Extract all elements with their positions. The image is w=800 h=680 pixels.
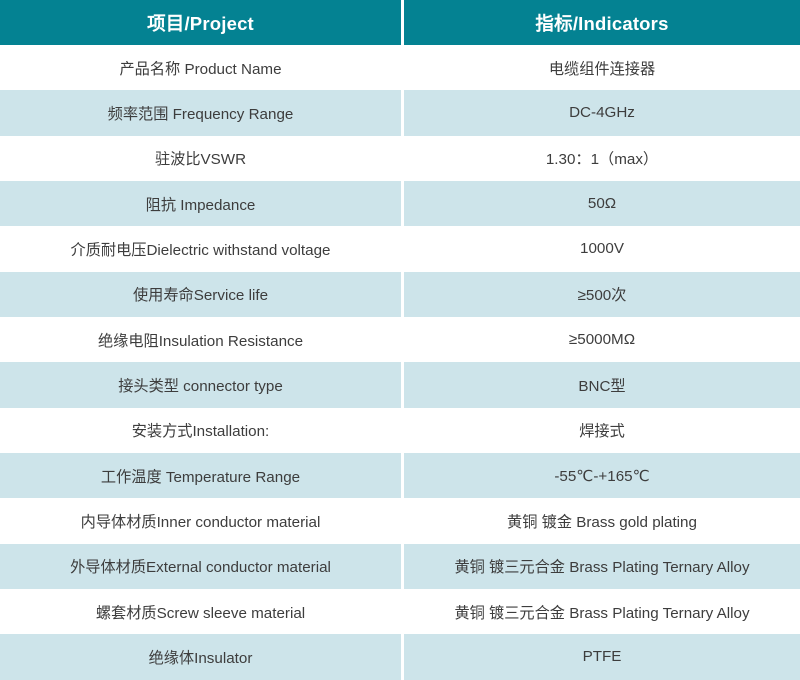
cell-project: 介质耐电压Dielectric withstand voltage — [0, 226, 401, 271]
cell-indicator: 黄铜 镀三元合金 Brass Plating Ternary Alloy — [404, 589, 800, 634]
cell-project: 绝缘体Insulator — [0, 634, 401, 679]
cell-indicator: 1.30：1（max） — [404, 136, 800, 181]
table-row: 绝缘体Insulator PTFE — [0, 634, 800, 679]
cell-project: 驻波比VSWR — [0, 136, 401, 181]
table-row: 接头类型 connector type BNC型 — [0, 362, 800, 407]
cell-indicator: PTFE — [404, 634, 800, 679]
cell-indicator: 电缆组件连接器 — [404, 45, 800, 90]
table-row: 外导体材质External conductor material 黄铜 镀三元合… — [0, 544, 800, 589]
cell-project: 产品名称 Product Name — [0, 45, 401, 90]
table-row: 安装方式Installation: 焊接式 — [0, 408, 800, 453]
column-header-project: 项目/Project — [0, 0, 401, 45]
column-header-indicators: 指标/Indicators — [404, 0, 800, 45]
cell-indicator: BNC型 — [404, 362, 800, 407]
cell-project: 接头类型 connector type — [0, 362, 401, 407]
table-header-row: 项目/Project 指标/Indicators — [0, 0, 800, 45]
table-row: 螺套材质Screw sleeve material 黄铜 镀三元合金 Brass… — [0, 589, 800, 634]
table-row: 使用寿命Service life ≥500次 — [0, 272, 800, 317]
table-row: 介质耐电压Dielectric withstand voltage 1000V — [0, 226, 800, 271]
table-row: 工作温度 Temperature Range -55℃-+165℃ — [0, 453, 800, 498]
cell-project: 阻抗 Impedance — [0, 181, 401, 226]
cell-indicator: -55℃-+165℃ — [404, 453, 800, 498]
table-row: 驻波比VSWR 1.30：1（max） — [0, 136, 800, 181]
cell-indicator: 1000V — [404, 226, 800, 271]
table-row: 阻抗 Impedance 50Ω — [0, 181, 800, 226]
table-row: 产品名称 Product Name 电缆组件连接器 — [0, 45, 800, 90]
cell-project: 外导体材质External conductor material — [0, 544, 401, 589]
cell-project: 工作温度 Temperature Range — [0, 453, 401, 498]
cell-project: 绝缘电阻Insulation Resistance — [0, 317, 401, 362]
cell-project: 安装方式Installation: — [0, 408, 401, 453]
cell-indicator: 黄铜 镀三元合金 Brass Plating Ternary Alloy — [404, 544, 800, 589]
cell-indicator: ≥500次 — [404, 272, 800, 317]
cell-indicator: 焊接式 — [404, 408, 800, 453]
specification-table: 项目/Project 指标/Indicators 产品名称 Product Na… — [0, 0, 800, 680]
cell-indicator: 50Ω — [404, 181, 800, 226]
cell-indicator: 黄铜 镀金 Brass gold plating — [404, 498, 800, 543]
cell-project: 使用寿命Service life — [0, 272, 401, 317]
cell-project: 频率范围 Frequency Range — [0, 90, 401, 135]
table-row: 频率范围 Frequency Range DC-4GHz — [0, 90, 800, 135]
cell-project: 螺套材质Screw sleeve material — [0, 589, 401, 634]
cell-project: 内导体材质Inner conductor material — [0, 498, 401, 543]
cell-indicator: ≥5000MΩ — [404, 317, 800, 362]
table-row: 绝缘电阻Insulation Resistance ≥5000MΩ — [0, 317, 800, 362]
cell-indicator: DC-4GHz — [404, 90, 800, 135]
table-row: 内导体材质Inner conductor material 黄铜 镀金 Bras… — [0, 498, 800, 543]
